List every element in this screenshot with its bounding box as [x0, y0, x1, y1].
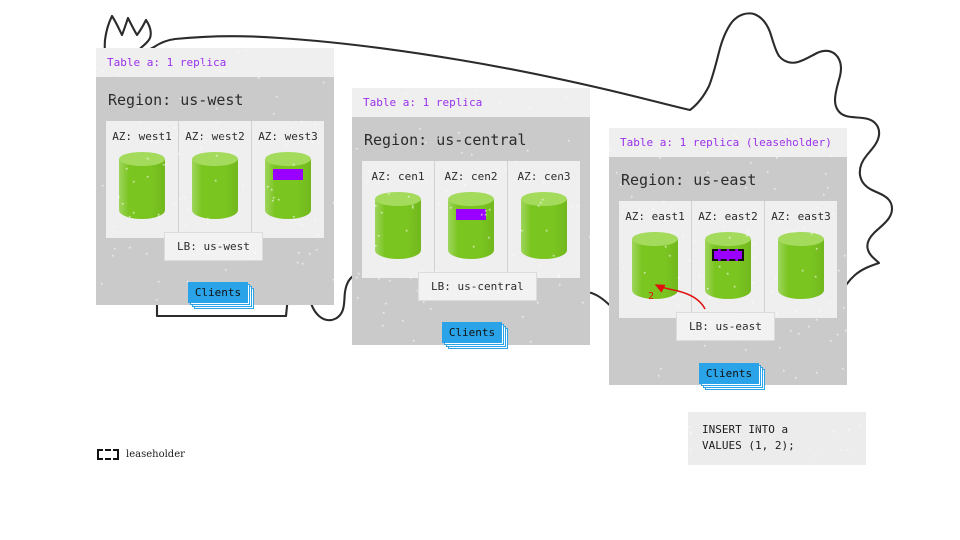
region-body-us-east: Region: us-east AZ: east1 AZ: east2	[609, 157, 847, 385]
region-body-us-west: Region: us-west AZ: west1 AZ: west2 AZ: …	[96, 77, 334, 305]
clients-button-label: Clients	[188, 282, 248, 303]
database-cylinder-cen3	[521, 192, 567, 264]
az-label-east1: AZ: east1	[625, 210, 685, 223]
region-body-us-central: Region: us-central AZ: cen1 AZ: cen2	[352, 117, 590, 345]
az-east2[interactable]: AZ: east2	[692, 201, 765, 318]
clients-button-label: Clients	[699, 363, 759, 384]
legend-label: leaseholder	[126, 449, 185, 460]
database-cylinder-west2	[192, 152, 238, 224]
az-label-east2: AZ: east2	[698, 210, 758, 223]
az-label-cen2: AZ: cen2	[445, 170, 498, 183]
region-header-us-central: Table a: 1 replica	[352, 88, 590, 117]
az-cen2[interactable]: AZ: cen2	[435, 161, 508, 278]
database-cylinder-cen2	[448, 192, 494, 264]
database-cylinder-west1	[119, 152, 165, 224]
replica-marker-west3	[273, 169, 303, 180]
az-label-west1: AZ: west1	[112, 130, 172, 143]
az-label-west2: AZ: west2	[185, 130, 245, 143]
sql-statement-box: INSERT INTO a VALUES (1, 2);	[688, 412, 866, 465]
clients-button-us-east[interactable]: Clients	[699, 363, 761, 386]
load-balancer-us-west[interactable]: LB: us-west	[164, 232, 263, 261]
database-cylinder-cen1	[375, 192, 421, 264]
az-west1[interactable]: AZ: west1	[106, 121, 179, 238]
region-panel-us-central: Table a: 1 replica Region: us-central AZ…	[352, 88, 590, 345]
diagram-canvas: Table a: 1 replica Region: us-west AZ: w…	[0, 0, 960, 540]
az-label-west3: AZ: west3	[258, 130, 318, 143]
region-header-us-west: Table a: 1 replica	[96, 48, 334, 77]
database-cylinder-east2	[705, 232, 751, 304]
load-balancer-us-central[interactable]: LB: us-central	[418, 272, 537, 301]
az-label-cen1: AZ: cen1	[372, 170, 425, 183]
az-row-us-west: AZ: west1 AZ: west2 AZ: west3	[106, 121, 324, 238]
legend: leaseholder	[97, 449, 185, 460]
az-cen1[interactable]: AZ: cen1	[362, 161, 435, 278]
az-label-cen3: AZ: cen3	[518, 170, 571, 183]
az-west3[interactable]: AZ: west3	[252, 121, 324, 238]
leaseholder-replica-marker-east2	[712, 249, 744, 261]
clients-button-label: Clients	[442, 322, 502, 343]
database-cylinder-west3	[265, 152, 311, 224]
region-title-us-west: Region: us-west	[96, 77, 334, 121]
az-row-us-central: AZ: cen1 AZ: cen2 AZ: cen3	[362, 161, 580, 278]
arrow-step-label: 2	[648, 291, 654, 302]
clients-button-us-west[interactable]: Clients	[188, 282, 250, 305]
az-cen3[interactable]: AZ: cen3	[508, 161, 580, 278]
region-panel-us-east: Table a: 1 replica (leaseholder) Region:…	[609, 128, 847, 385]
clients-button-us-central[interactable]: Clients	[442, 322, 504, 345]
dashed-rect-icon	[97, 449, 119, 460]
region-panel-us-west: Table a: 1 replica Region: us-west AZ: w…	[96, 48, 334, 305]
az-west2[interactable]: AZ: west2	[179, 121, 252, 238]
az-label-east3: AZ: east3	[771, 210, 831, 223]
az-east3[interactable]: AZ: east3	[765, 201, 837, 318]
load-balancer-us-east[interactable]: LB: us-east	[676, 312, 775, 341]
az-east1[interactable]: AZ: east1	[619, 201, 692, 318]
region-header-us-east: Table a: 1 replica (leaseholder)	[609, 128, 847, 157]
replica-marker-cen2	[456, 209, 486, 220]
database-cylinder-east1	[632, 232, 678, 304]
database-cylinder-east3	[778, 232, 824, 304]
region-title-us-central: Region: us-central	[352, 117, 590, 161]
region-title-us-east: Region: us-east	[609, 157, 847, 201]
